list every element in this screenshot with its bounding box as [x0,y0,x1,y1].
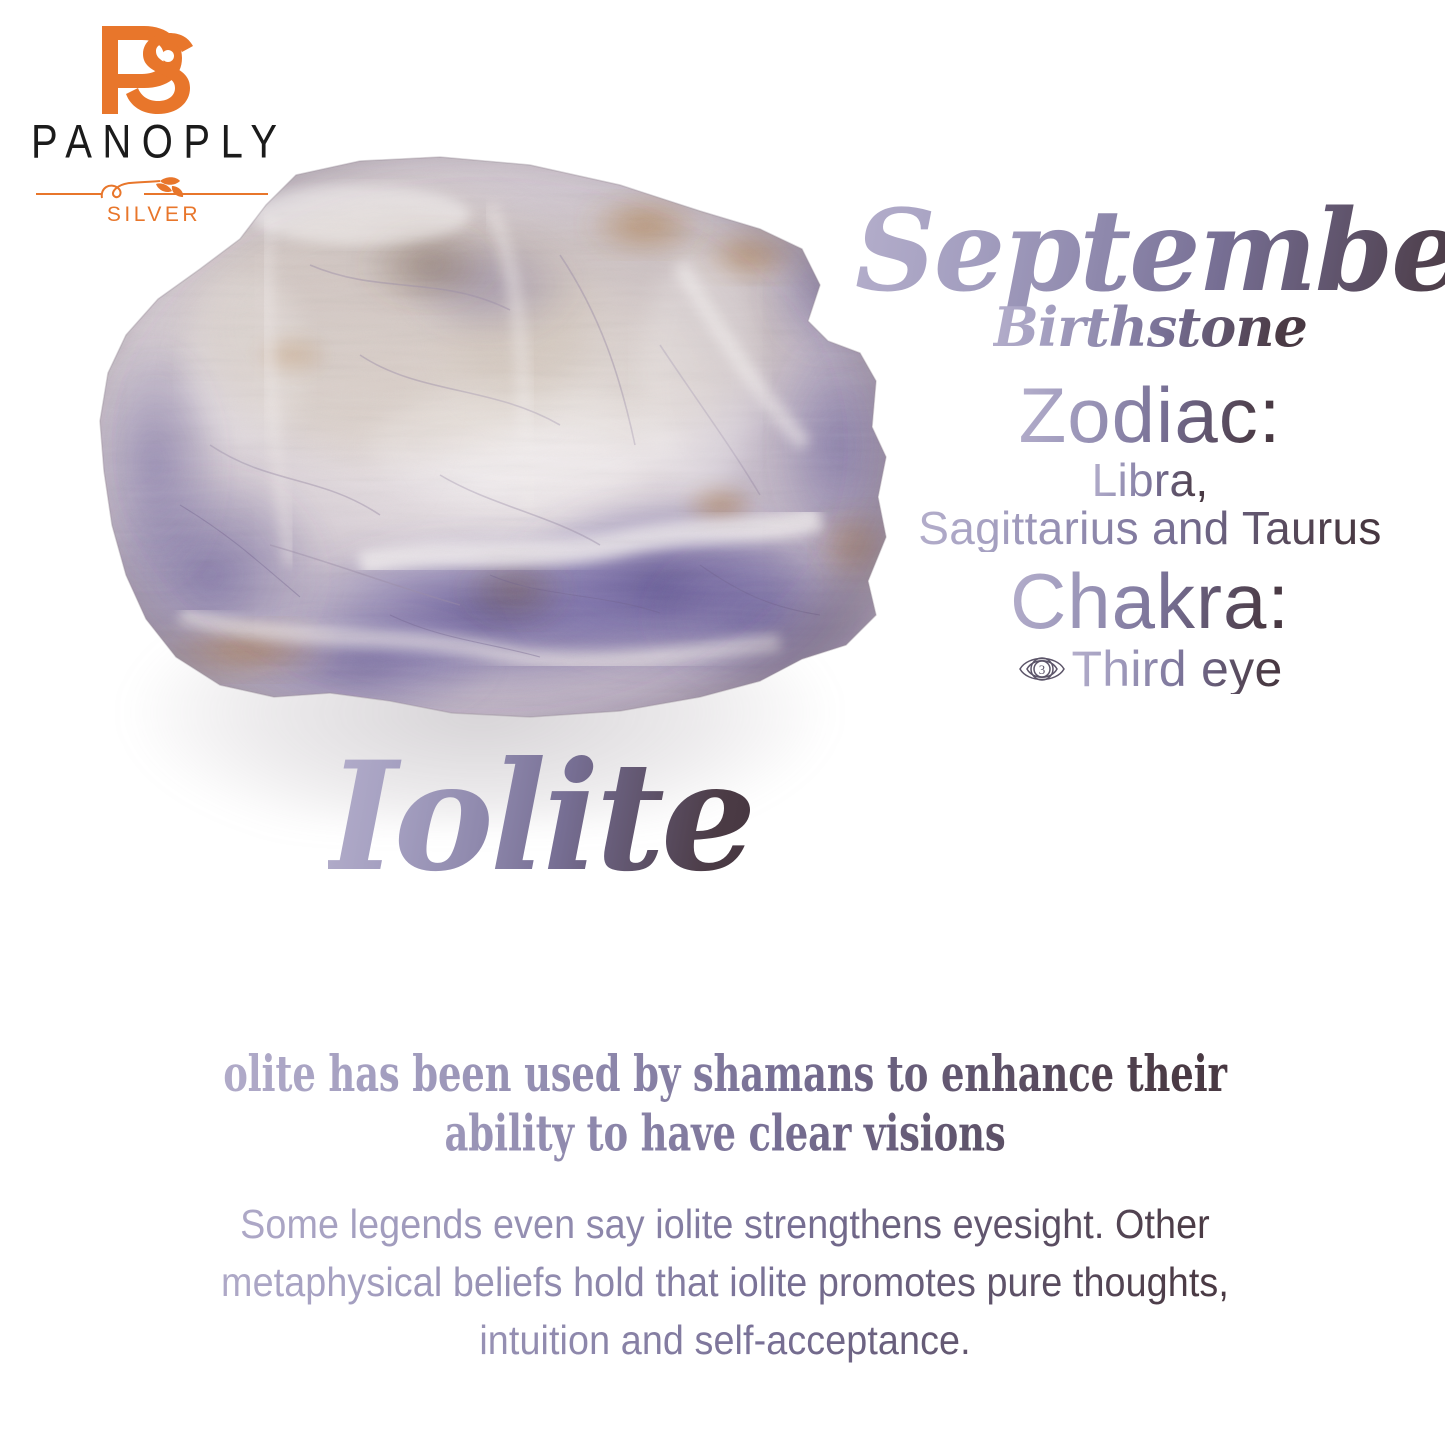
third-eye-chakra-icon: 3 [1017,647,1067,691]
birthstone-info-panel: September Birthstone Zodiac: Libra, Sagi… [855,196,1445,694]
zodiac-value-line2: Sagittarius and Taurus [855,504,1445,552]
chakra-label: Chakra: [855,562,1445,642]
body-text: Some legends even say iolite strengthens… [110,1195,1340,1370]
iolite-specimen-image [60,145,900,745]
zodiac-value-line1: Libra, [855,456,1445,504]
month-title: September [855,196,1445,308]
headline-text: olite has been used by shamans to enhanc… [95,1054,1355,1155]
zodiac-label: Zodiac: [855,376,1445,456]
chakra-value-row: 3 Third eye [855,644,1445,694]
gem-name-title: Iolite [210,742,870,892]
chakra-number: 3 [1039,662,1046,677]
chakra-value: Third eye [1071,644,1282,694]
ps-monogram-icon [22,18,282,122]
